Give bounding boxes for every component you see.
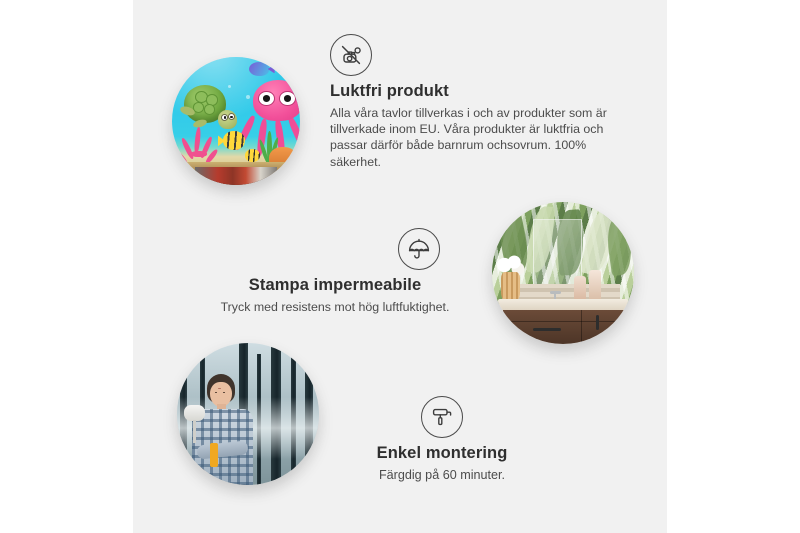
feature-body: Alla våra tavlor tillverkas i och av pro… [330, 105, 620, 170]
feature-title: Luktfri produkt [330, 82, 630, 101]
installer-forest-mural-thumbnail [177, 343, 319, 485]
feature-body: Färgdig på 60 minuter. [322, 467, 562, 483]
paint-roller-icon [421, 396, 463, 438]
bathroom-tropical-wallpaper-thumbnail [492, 202, 634, 344]
feature-stampa-impermeabile: Stampa impermeabile Tryck med resistens … [190, 228, 480, 315]
feature-body: Tryck med resistens mot hög luftfuktighe… [190, 299, 480, 315]
feature-title: Stampa impermeabile [190, 276, 480, 295]
feature-enkel-montering: Enkel montering Färgdig på 60 minuter. [322, 396, 562, 483]
feature-luktfri-produkt: Luktfri produkt Alla våra tavlor tillver… [330, 34, 630, 170]
promo-graphic: Luktfri produkt Alla våra tavlor tillver… [0, 0, 800, 533]
no-fragrance-icon [330, 34, 372, 76]
umbrella-icon [398, 228, 440, 270]
feature-title: Enkel montering [322, 444, 562, 463]
underwater-kids-mural-thumbnail [172, 57, 300, 185]
